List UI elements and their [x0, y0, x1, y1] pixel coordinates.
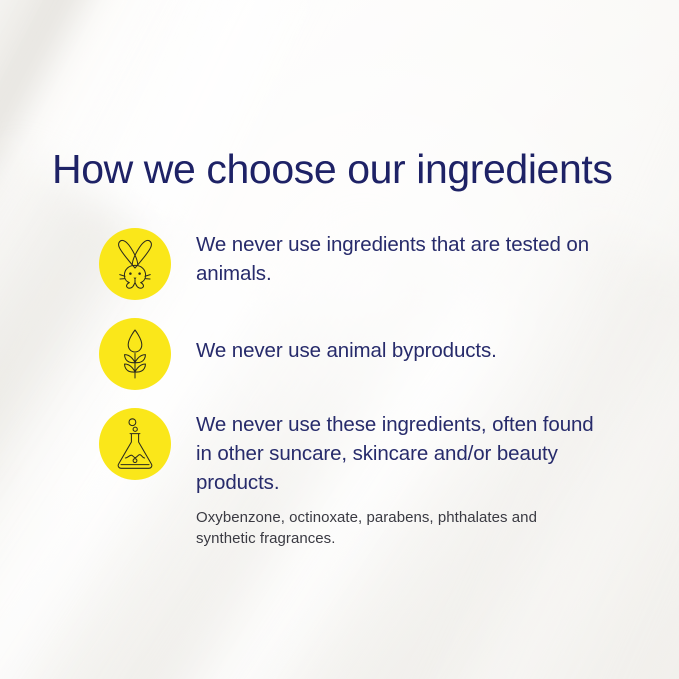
plant-sprig-icon	[115, 328, 155, 380]
list-item-text: We never use animal byproducts.	[171, 318, 497, 365]
principle-statement: We never use these ingredients, often fo…	[196, 410, 596, 497]
icon-badge	[99, 228, 171, 300]
list-item: We never use ingredients that are tested…	[99, 228, 619, 300]
list-item: We never use these ingredients, often fo…	[99, 408, 619, 549]
erlenmeyer-flask-icon	[114, 417, 156, 471]
principle-statement: We never use ingredients that are tested…	[196, 230, 596, 288]
list-item: We never use animal byproducts.	[99, 318, 619, 390]
list-item-text: We never use ingredients that are tested…	[171, 228, 596, 288]
principle-sub-note: Oxybenzone, octinoxate, parabens, phthal…	[196, 507, 566, 549]
icon-badge	[99, 408, 171, 480]
list-item-text: We never use these ingredients, often fo…	[171, 408, 596, 549]
principle-statement: We never use animal byproducts.	[196, 336, 497, 365]
infographic-page: How we choose our ingredients	[0, 0, 679, 679]
icon-badge	[99, 318, 171, 390]
ingredient-principles-list: We never use ingredients that are tested…	[99, 228, 619, 549]
bunny-heart-ears-icon	[112, 238, 158, 290]
page-title: How we choose our ingredients	[52, 146, 612, 193]
